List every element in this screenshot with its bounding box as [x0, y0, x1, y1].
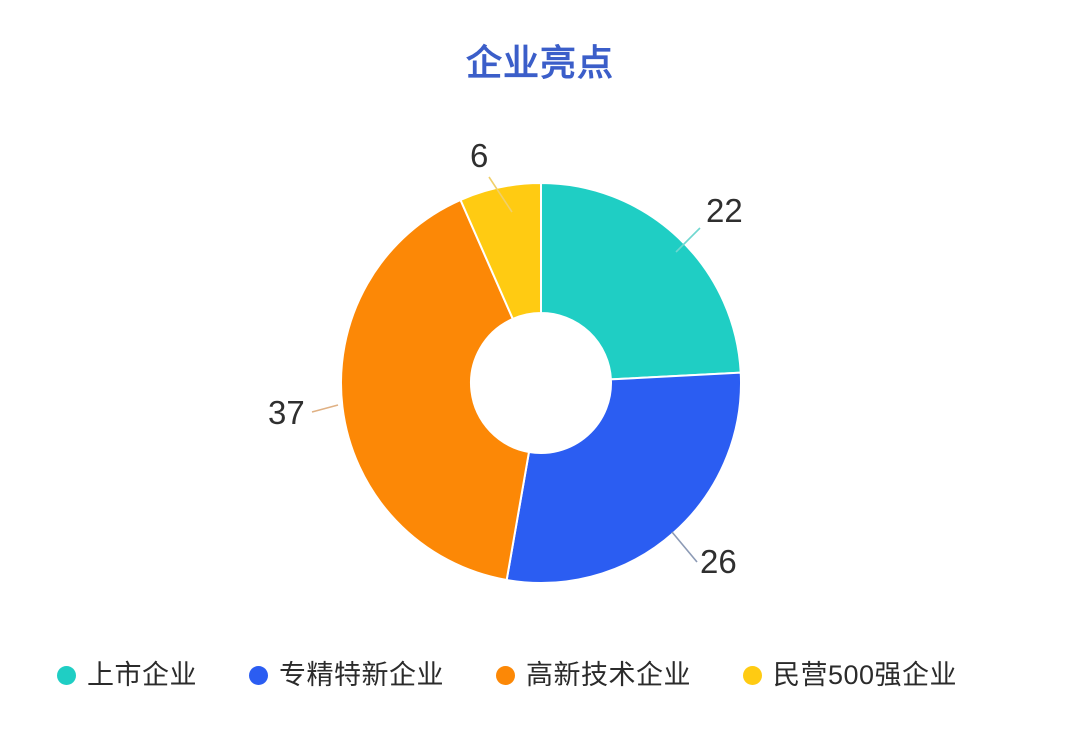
legend-item-label: 专精特新企业 — [279, 659, 444, 691]
donut-slice-layer — [341, 183, 741, 583]
legend-item[interactable]: 高新技术企业 — [496, 659, 691, 691]
slice-value-label: 22 — [706, 192, 743, 229]
legend-item-label: 上市企业 — [87, 659, 197, 691]
leader-line — [672, 532, 697, 562]
legend-item-label: 民营500强企业 — [773, 659, 957, 691]
donut-chart-plot-area: 2226376 — [0, 0, 1080, 660]
legend-item[interactable]: 上市企业 — [57, 659, 197, 691]
legend-item[interactable]: 民营500强企业 — [743, 659, 957, 691]
slice-value-label: 26 — [700, 543, 737, 580]
chart-root: 企业亮点 2226376 上市企业专精特新企业高新技术企业民营500强企业 — [0, 0, 1080, 742]
leader-line — [312, 405, 338, 412]
slice-value-label: 37 — [268, 394, 305, 431]
legend-color-swatch-icon — [57, 666, 76, 685]
legend-color-swatch-icon — [743, 666, 762, 685]
legend-color-swatch-icon — [496, 666, 515, 685]
donut-chart-svg: 2226376 — [0, 0, 1080, 660]
chart-legend: 上市企业专精特新企业高新技术企业民营500强企业 — [0, 650, 1080, 700]
legend-color-swatch-icon — [249, 666, 268, 685]
legend-item-label: 高新技术企业 — [526, 659, 691, 691]
slice-value-label: 6 — [470, 137, 488, 174]
legend-item[interactable]: 专精特新企业 — [249, 659, 444, 691]
